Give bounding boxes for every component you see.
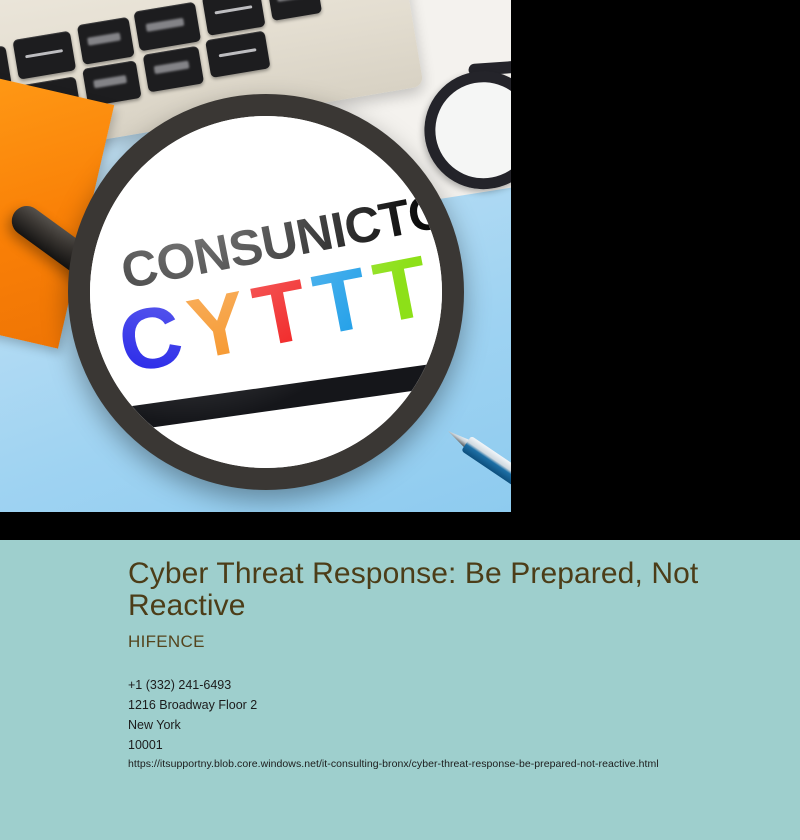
keyboard-key (12, 31, 76, 80)
page-root: CONSUNICTON CYTTT Cyber Threat Response:… (0, 0, 800, 840)
contact-city: New York (128, 715, 257, 735)
keyboard-key (202, 0, 266, 36)
contact-block: +1 (332) 241-6493 1216 Broadway Floor 2 … (128, 675, 257, 755)
contact-postal-code: 10001 (128, 735, 257, 755)
keyboard-key (205, 31, 270, 78)
magnifier-ring: CONSUNICTON CYTTT (68, 94, 464, 490)
article-content: Cyber Threat Response: Be Prepared, Not … (0, 540, 800, 840)
source-url[interactable]: https://itsupportny.blob.core.windows.ne… (128, 758, 659, 770)
hero-media-band: CONSUNICTON CYTTT (0, 0, 800, 540)
keyboard-key (143, 46, 205, 93)
page-title: Cyber Threat Response: Be Prepared, Not … (128, 558, 758, 622)
contact-phone: +1 (332) 241-6493 (128, 675, 257, 695)
brand-name: HIFENCE (128, 632, 205, 652)
keyboard-key (266, 0, 322, 21)
contact-address-line1: 1216 Broadway Floor 2 (128, 695, 257, 715)
keyboard-key (77, 17, 135, 65)
magnifying-glass: CONSUNICTON CYTTT (60, 92, 500, 492)
hero-photo: CONSUNICTON CYTTT (0, 0, 511, 512)
keyboard-key (133, 2, 201, 52)
